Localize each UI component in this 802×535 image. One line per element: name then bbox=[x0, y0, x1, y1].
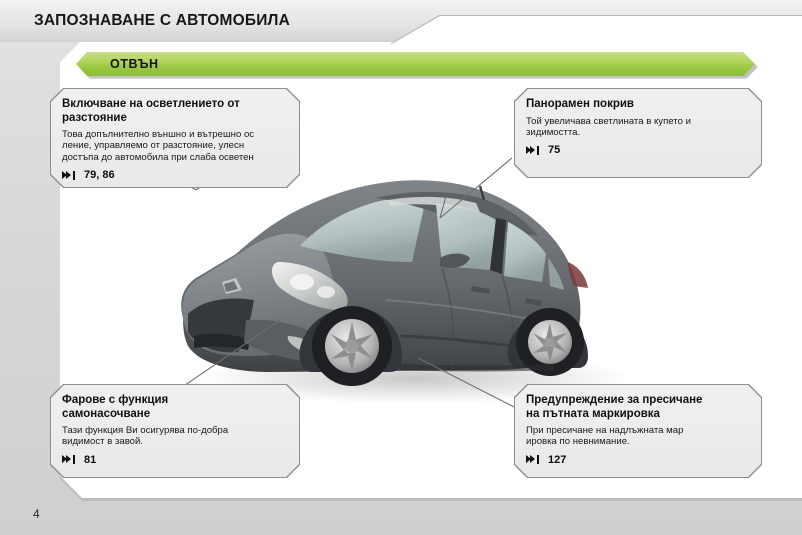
callout-remote-lighting: Включване на осветлението от разстояние … bbox=[51, 89, 299, 187]
section-banner-label: ОТВЪН bbox=[110, 52, 159, 76]
page-title: ЗАПОЗНАВАНЕ С АВТОМОБИЛА bbox=[34, 12, 290, 30]
callout-body: При пресичане на надлъжната мар ировка п… bbox=[526, 425, 750, 448]
callout-title: Предупреждение за пресичане на пътната м… bbox=[526, 394, 750, 421]
callout-page-number: 75 bbox=[548, 144, 560, 156]
callout-page-number: 79, 86 bbox=[84, 169, 115, 181]
callout-body: Това допълнително външно и вътрешно ос л… bbox=[62, 129, 288, 163]
callout-title: Панорамен покрив bbox=[526, 98, 750, 112]
callout-page-number: 127 bbox=[548, 454, 566, 466]
callout-title: Фарове с функция самонасочване bbox=[62, 394, 288, 421]
callout-page-reference[interactable]: 127 bbox=[526, 454, 750, 466]
callout-body: Тази функция Ви осигурява по-добра видим… bbox=[62, 425, 288, 448]
callout-body: Той увеличава светлината в купето и зиди… bbox=[526, 116, 750, 139]
callout-page-reference[interactable]: 75 bbox=[526, 144, 750, 156]
car-illustration bbox=[150, 150, 650, 410]
callout-page-number: 81 bbox=[84, 454, 96, 466]
callout-panoramic-roof: Панорамен покрив Той увеличава светлинат… bbox=[515, 89, 761, 177]
callout-title: Включване на осветлението от разстояние bbox=[62, 98, 288, 125]
fast-forward-icon bbox=[526, 146, 539, 155]
fast-forward-icon bbox=[62, 455, 75, 464]
section-banner-bar bbox=[76, 52, 755, 76]
callout-page-reference[interactable]: 81 bbox=[62, 454, 288, 466]
page-number: 4 bbox=[33, 507, 40, 521]
fast-forward-icon bbox=[526, 455, 539, 464]
section-banner: ОТВЪН bbox=[76, 52, 758, 78]
callout-directional-headlamps: Фарове с функция самонасочване Тази функ… bbox=[51, 385, 299, 477]
fast-forward-icon bbox=[62, 171, 75, 180]
callout-lane-departure-warning: Предупреждение за пресичане на пътната м… bbox=[515, 385, 761, 477]
callout-page-reference[interactable]: 79, 86 bbox=[62, 169, 288, 181]
